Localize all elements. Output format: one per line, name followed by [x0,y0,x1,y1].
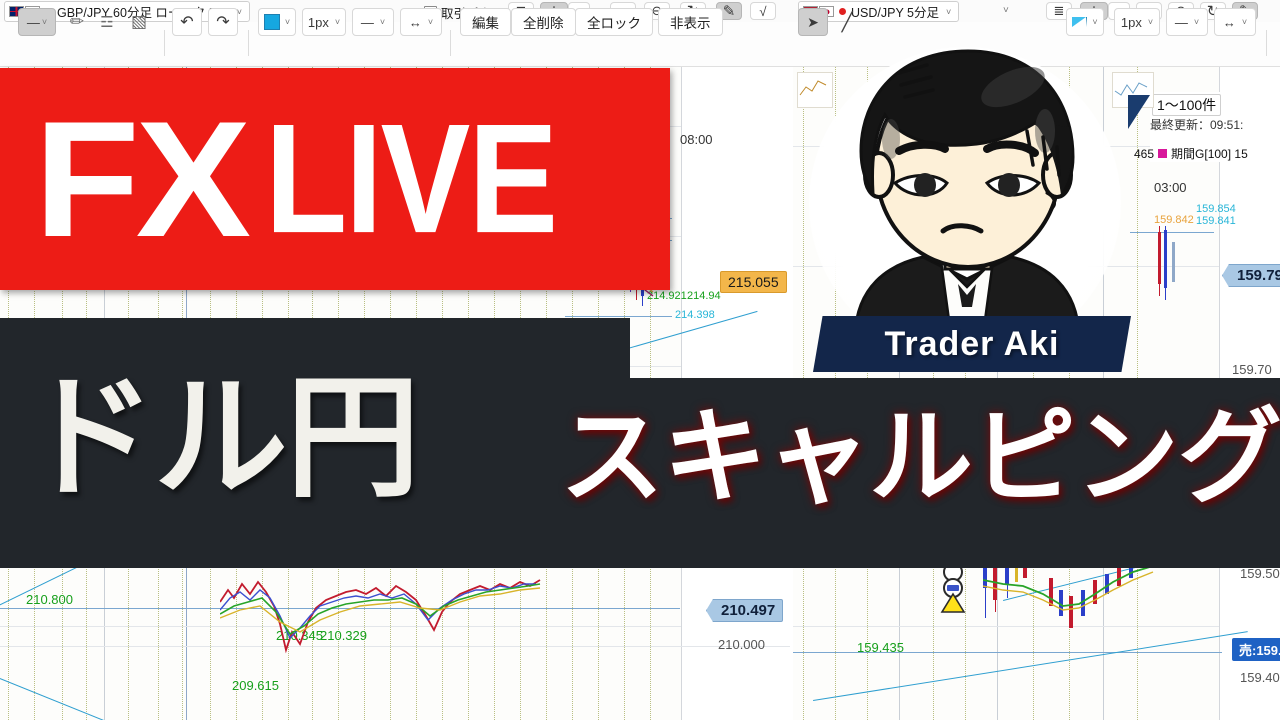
line-kind-icon: — [1175,15,1188,30]
usdjpy-indicator-legend: 465 期間G[100] 15 [1134,145,1248,162]
line-width-select[interactable]: 1px ˅ [302,8,346,36]
line-kind-icon: — [361,15,374,30]
chevron-down-icon[interactable]: ˅ [1148,17,1153,27]
banner-live-text: LIVE [265,101,556,257]
edit-button[interactable]: 編集 [460,8,511,36]
nameplate-label: Trader Aki [884,325,1059,364]
line-style-icon: — [27,15,40,30]
cursor-tool-button[interactable]: ➤ [798,8,828,36]
legend-color-chip [1158,149,1167,158]
chevron-down-icon[interactable]: ˅ [335,17,340,27]
gbpjpy-label-209615: 209.615 [232,678,279,693]
gbpjpy-label-21494: 214.94 [687,290,721,302]
chevron-down-icon[interactable]: ˅ [285,17,290,27]
gbpjpy-bottom-series [220,572,640,672]
gbpjpy-label-214398: 214.398 [675,309,715,321]
hide-button[interactable]: 非表示 [658,8,723,36]
gbpjpy-bottom-detail: 210.800 210.345 210.329 209.615 [0,566,790,720]
color-swatch-icon [1072,17,1087,27]
line-width-label: 1px [1121,15,1142,30]
color-picker-button[interactable]: ˅ [1066,8,1104,36]
usdjpy-label-159854: 159.854 [1196,203,1236,215]
title-main: ドル円 [22,372,418,506]
undo-icon[interactable]: ↶ [172,8,202,36]
line-style-button[interactable]: — ˅ [18,8,56,36]
indicator-legend-label: 期間G[100] 15 [1171,145,1248,162]
gbpjpy-label-210800: 210.800 [26,592,73,607]
chevron-down-icon[interactable]: ˅ [1194,17,1199,27]
redo-icon[interactable]: ↷ [208,8,238,36]
line-width-label: 1px [308,15,329,30]
usdjpy-time-label: 03:00 [1154,180,1187,195]
order-marker-icon[interactable] [939,562,967,618]
arrow-kind-select[interactable]: ↔ ˅ [400,8,442,36]
usdjpy-sell-price-tag[interactable]: 売:159.4 [1232,638,1280,661]
nameplate: Trader Aki [813,316,1131,372]
title-sub: スキャルピング [560,406,1280,510]
line-width-select[interactable]: 1px ˅ [1114,8,1160,36]
ruler-icon[interactable]: ✏ [62,8,92,36]
avatar-character-icon [795,35,1150,335]
line-kind-select[interactable]: — ˅ [352,8,394,36]
lock-all-button[interactable]: 全ロック [575,8,653,36]
symbol-label-usdjpy: USD/JPY 5分足 [851,2,939,21]
line-tool-icon[interactable]: ╱ [832,8,862,36]
indicator-icon[interactable]: √ [750,2,776,20]
arrow-kind-icon: ↔ [409,15,422,30]
fx-live-banner: FX LIVE [0,68,670,290]
fibonacci-icon[interactable]: ☲ [92,8,122,36]
chevron-down-icon[interactable]: ˅ [1092,17,1097,27]
arrow-kind-select[interactable]: ↔ ˅ [1214,8,1256,36]
eraser-icon[interactable]: ▧ [124,8,154,36]
color-swatch-icon [264,14,280,30]
gbpjpy-axis-label-210000: 210.000 [718,637,765,652]
gbpjpy-bottom-price-tag[interactable]: 210.497 [706,599,783,622]
record-count-label: 1～100件 [1152,94,1221,116]
chevron-down-icon[interactable]: ˅ [428,17,433,27]
gbpjpy-time-label: 08:00 [680,132,713,147]
usdjpy-label-159842: 159.842 [1154,214,1194,226]
last-update-label: 最終更新：09:51: [1150,116,1243,133]
usdjpy-label-159841: 159.841 [1196,215,1236,227]
usdjpy-axis-label-15950: 159.50 [1240,566,1280,581]
banner-fx-text: FX [34,97,247,262]
line-kind-select[interactable]: — ˅ [1166,8,1208,36]
usdjpy-bottom-detail: 159.435 [793,560,1280,720]
arrow-kind-icon: ↔ [1223,15,1236,30]
symbol-extra-chevron-icon[interactable]: ˅ [1003,5,1009,16]
chevron-down-icon[interactable]: ˅ [1242,17,1247,27]
line-style-dropdown-icon[interactable]: ˅ [42,17,47,27]
usdjpy-axis-label-15970: 159.70 [1232,362,1272,377]
delete-all-button[interactable]: 全削除 [511,8,576,36]
usdjpy-current-price-tag[interactable]: 159.79 [1222,264,1280,287]
color-picker-button[interactable]: ˅ [258,8,296,36]
chevron-down-icon[interactable]: ˅ [380,17,385,27]
chevron-down-icon[interactable]: ˅ [946,7,951,17]
screen-root: 08:00 215.889 215.734 215.638 214.921 21… [0,0,1280,720]
avatar: Trader Aki [795,35,1150,365]
usdjpy-label-159435: 159.435 [857,640,904,655]
usdjpy-axis-label-15940: 159.40 [1240,670,1280,685]
gbpjpy-current-price-tag[interactable]: 215.055 [720,271,787,293]
